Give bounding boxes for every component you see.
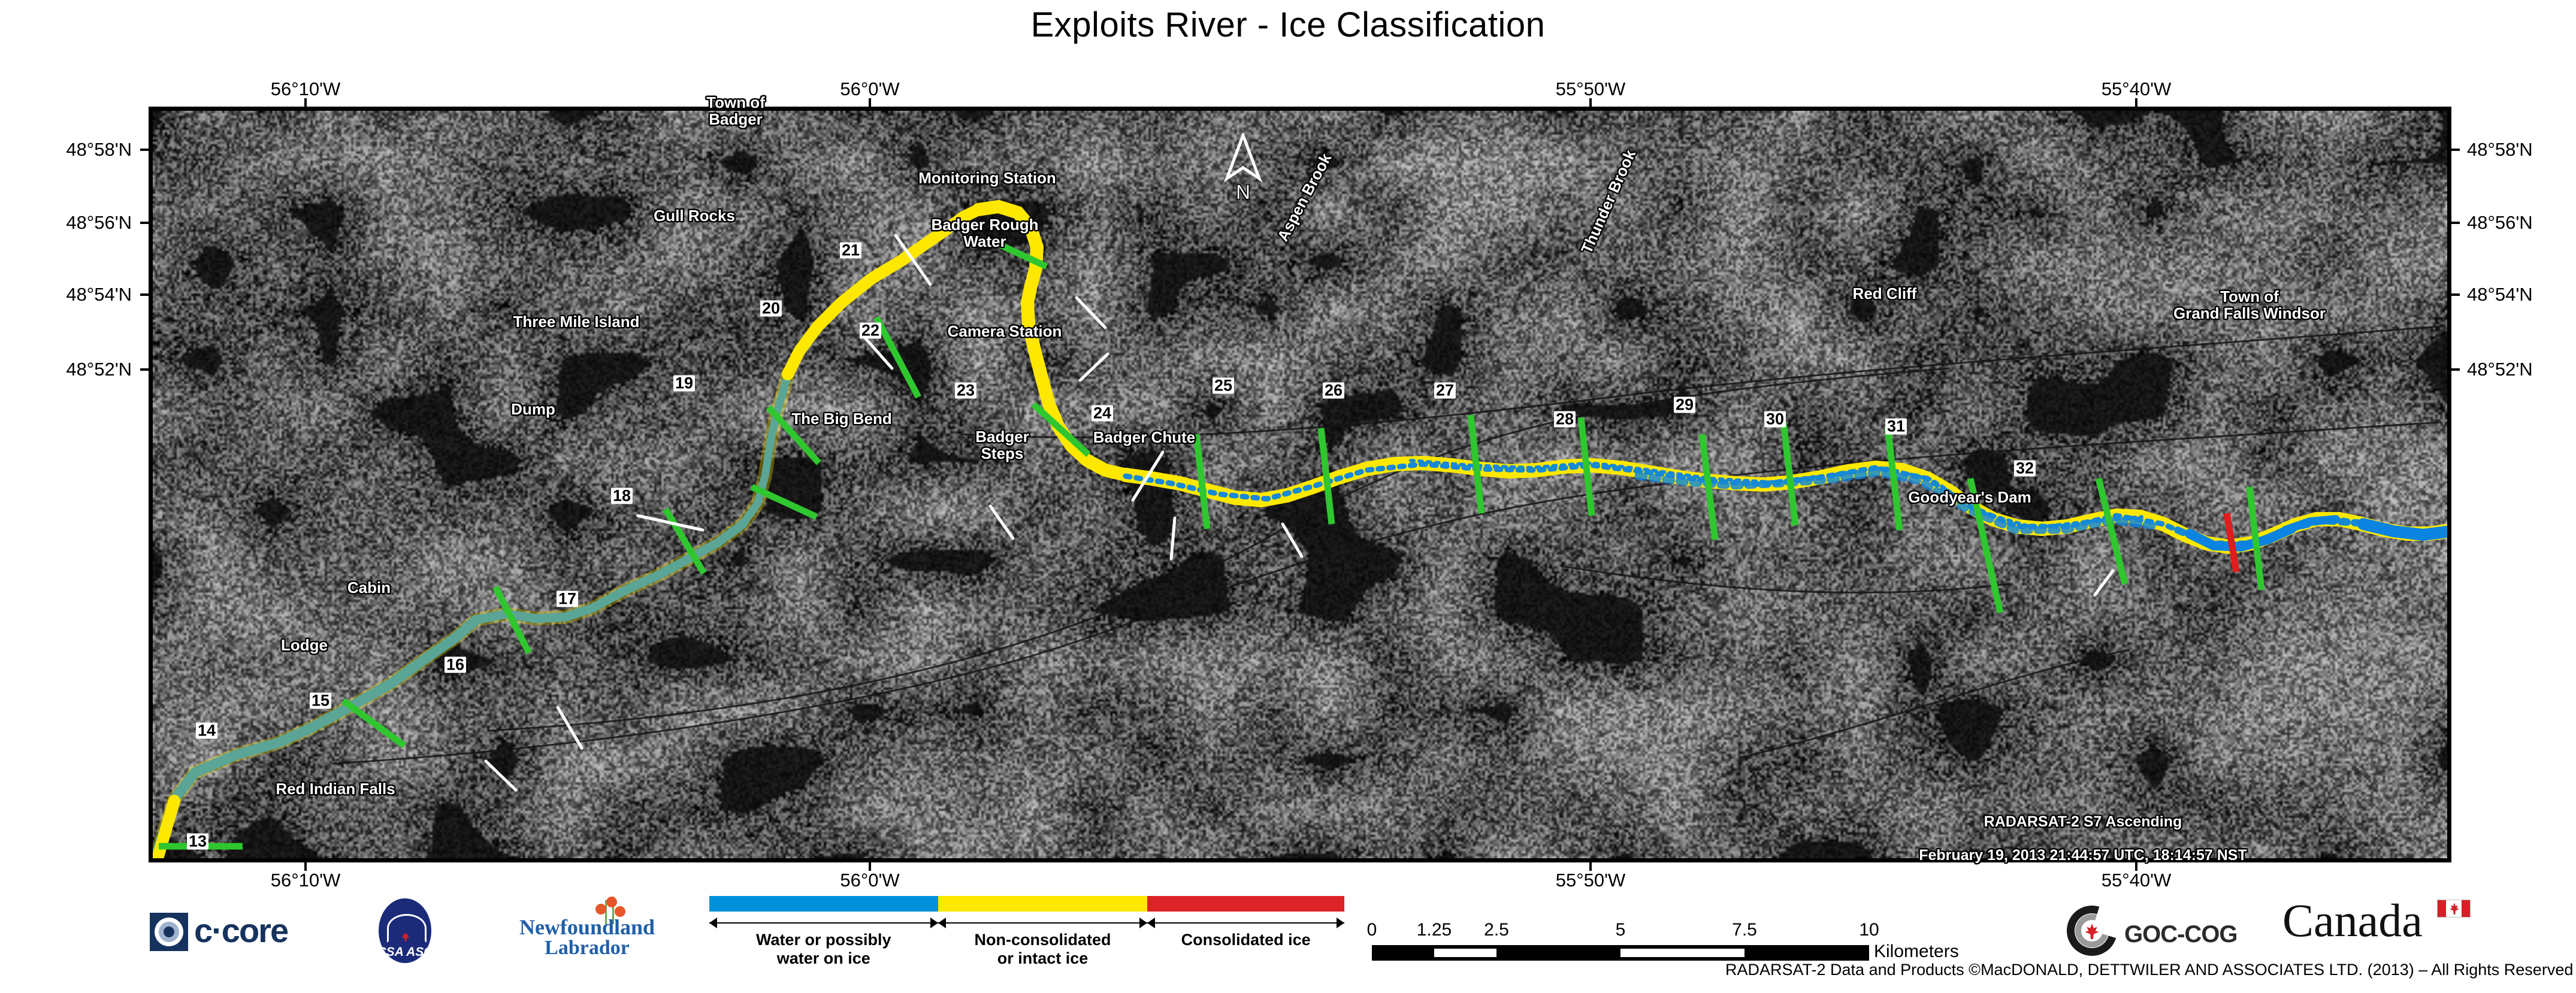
lon-tick-0-0 xyxy=(304,98,307,107)
page-title: Exploits River - Ice Classification xyxy=(0,5,2576,45)
scale-tick-2: 2.5 xyxy=(1484,920,1509,940)
lat-label-left-2: 48°54'N xyxy=(0,284,132,305)
lon-label-bottom-0: 56°10'W xyxy=(271,870,341,891)
lon-tick-1-1 xyxy=(869,862,871,871)
scale-bar-unit-label: Kilometers xyxy=(1874,941,1959,962)
scale-tick-1: 1.25 xyxy=(1417,920,1452,940)
lon-tick-1-0 xyxy=(869,98,871,107)
pitcher-plant-icon xyxy=(595,904,606,915)
legend-label-1: Non-consolidated or intact ice xyxy=(938,931,1148,968)
legend-class-labels: Water or possibly water on iceNon-consol… xyxy=(709,931,1344,968)
lat-tick-0-1 xyxy=(2451,149,2460,151)
acquisition-info: RADARSAT-2 S7 Ascending February 19, 201… xyxy=(1910,797,2247,864)
lon-tick-0-1 xyxy=(304,862,307,871)
label-leader-lines xyxy=(373,235,2113,858)
legend-range-arrows xyxy=(709,916,1344,930)
ccore-logo[interactable]: c·core xyxy=(150,910,365,953)
lat-label-right-0: 48°58'N xyxy=(2467,139,2533,161)
river-ice-rim xyxy=(158,374,788,850)
lat-label-right-1: 48°56'N xyxy=(2467,212,2533,234)
legend-swatch-1 xyxy=(938,896,1148,912)
lat-label-right-2: 48°54'N xyxy=(2467,284,2533,305)
scale-tick-0: 0 xyxy=(1367,920,1377,940)
lat-tick-1-1 xyxy=(2451,222,2460,224)
lon-tick-2-1 xyxy=(1589,862,1592,871)
river-ice-class xyxy=(158,207,2446,858)
road-network xyxy=(332,326,2441,764)
scale-bar-ticks: 01.252.557.510 xyxy=(1372,920,1899,941)
acquisition-line-1: RADARSAT-2 S7 Ascending xyxy=(1984,813,2182,830)
newfoundland-labrador-logo[interactable]: Newfoundland Labrador xyxy=(515,895,659,967)
lat-label-right-3: 48°52'N xyxy=(2467,359,2533,380)
scale-bar-graphic xyxy=(1372,945,1869,961)
north-arrow: N xyxy=(1216,133,1270,214)
lat-label-left-3: 48°52'N xyxy=(0,359,132,380)
ccore-logo-text: c·core xyxy=(194,914,288,947)
csa-asc-logo[interactable]: CSA ASC xyxy=(371,898,439,965)
cross-section-lines xyxy=(159,243,2261,846)
ccore-mark-icon xyxy=(150,913,188,951)
lon-label-top-0: 56°10'W xyxy=(271,78,341,100)
lon-label-top-2: 55°50'W xyxy=(1556,78,1626,100)
north-arrow-label: N xyxy=(1216,181,1270,204)
legend-arrow-0 xyxy=(709,916,938,930)
lon-label-bottom-3: 55°40'W xyxy=(2102,870,2172,891)
lon-label-bottom-2: 55°50'W xyxy=(1556,870,1626,891)
legend-label-2: Consolidated ice xyxy=(1147,931,1344,968)
canada-flag-icon xyxy=(2437,900,2471,918)
legend-swatch-0 xyxy=(709,896,938,912)
legend: Water or possibly water on iceNon-consol… xyxy=(709,896,1344,980)
scale-tick-5: 10 xyxy=(1859,920,1879,940)
ice-classification-overlay xyxy=(153,111,2447,858)
lat-tick-2-1 xyxy=(2451,293,2460,296)
csa-swoosh-icon xyxy=(387,914,427,943)
scale-tick-3: 5 xyxy=(1616,920,1626,940)
pitcher-plant-icon-2 xyxy=(606,897,617,907)
copyright-credit: RADARSAT-2 Data and Products ©MacDONALD,… xyxy=(1725,961,2573,979)
goc-logo-text: GOC-COG xyxy=(2124,921,2238,948)
nl-logo-line-1: Newfoundland xyxy=(515,917,659,937)
acquisition-line-2: February 19, 2013 21:44:57 UTC, 18:14:57… xyxy=(1919,847,2247,864)
lon-tick-2-0 xyxy=(1589,98,1592,107)
lat-tick-3-0 xyxy=(140,368,149,371)
canada-wordmark-logo[interactable]: Canada xyxy=(2282,897,2480,957)
legend-swatch-2 xyxy=(1147,896,1344,912)
nl-logo-line-2: Labrador xyxy=(515,938,659,958)
lon-label-top-3: 55°40'W xyxy=(2102,78,2172,100)
lat-label-left-1: 48°56'N xyxy=(0,212,132,234)
lon-tick-3-1 xyxy=(2135,862,2137,871)
legend-label-0: Water or possibly water on ice xyxy=(709,931,938,968)
river-water-class xyxy=(158,374,788,850)
lon-label-bottom-1: 56°0'W xyxy=(840,870,899,891)
lat-tick-1-0 xyxy=(140,222,149,224)
goc-cog-logo[interactable]: GOC-COG xyxy=(2067,906,2247,961)
scale-tick-4: 7.5 xyxy=(1732,920,1757,940)
legend-arrow-2 xyxy=(1147,916,1344,930)
lon-tick-3-0 xyxy=(2135,98,2137,107)
lat-tick-2-0 xyxy=(140,293,149,296)
lat-tick-3-1 xyxy=(2451,368,2460,371)
csa-logo-text: CSA ASC xyxy=(371,945,439,959)
lat-label-left-0: 48°58'N xyxy=(0,139,132,161)
legend-arrow-1 xyxy=(938,916,1148,930)
lat-tick-0-0 xyxy=(140,149,149,151)
lon-label-top-1: 56°0'W xyxy=(840,78,899,100)
legend-color-swatches xyxy=(709,896,1344,912)
canada-wordmark-text: Canada xyxy=(2282,897,2423,944)
map-canvas[interactable] xyxy=(149,107,2451,862)
